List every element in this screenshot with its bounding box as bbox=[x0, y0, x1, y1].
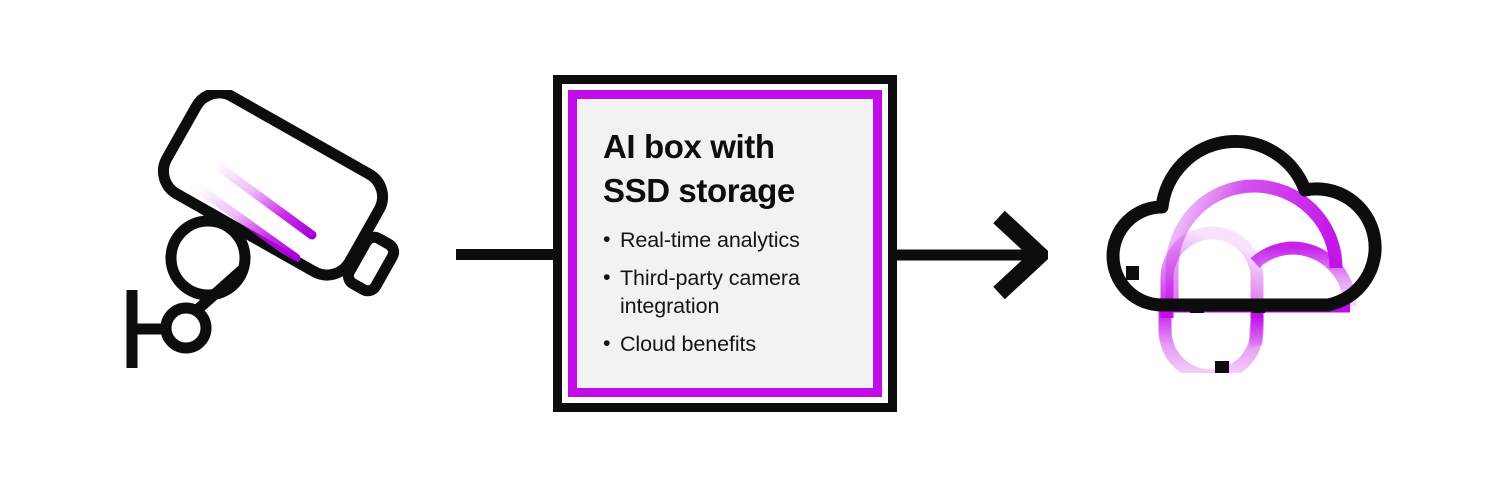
list-item-label: Real-time analytics bbox=[620, 228, 800, 252]
ai-box-node: AI box with SSD storage • Real-time anal… bbox=[553, 75, 897, 412]
ai-box-feature-list: • Real-time analytics • Third-party came… bbox=[603, 226, 851, 358]
ai-box-title: AI box with SSD storage bbox=[603, 125, 851, 212]
security-camera-svg bbox=[110, 90, 410, 380]
arrow-svg bbox=[893, 205, 1048, 305]
camera-to-box-connector bbox=[456, 249, 556, 260]
box-to-cloud-arrow bbox=[893, 205, 1048, 305]
ai-box-inner-panel: AI box with SSD storage • Real-time anal… bbox=[568, 90, 882, 397]
camera-wall-mount bbox=[132, 290, 206, 368]
diagram-canvas: AI box with SSD storage • Real-time anal… bbox=[0, 0, 1500, 501]
list-item: • Real-time analytics bbox=[603, 226, 851, 255]
cloud-accent-ribbon bbox=[1162, 186, 1350, 373]
security-camera-icon bbox=[110, 90, 410, 380]
list-item: • Cloud benefits bbox=[603, 330, 851, 359]
bullet-glyph: • bbox=[603, 225, 610, 254]
cloud-outline bbox=[1113, 141, 1375, 305]
bullet-glyph: • bbox=[603, 329, 610, 358]
cloud-svg bbox=[1100, 118, 1400, 373]
list-item-label: Cloud benefits bbox=[620, 332, 756, 356]
list-item: • Third-party camera integration bbox=[603, 264, 851, 321]
cloud-icon bbox=[1100, 118, 1400, 373]
list-item-label: Third-party camera integration bbox=[620, 266, 800, 319]
bullet-glyph: • bbox=[603, 263, 610, 292]
